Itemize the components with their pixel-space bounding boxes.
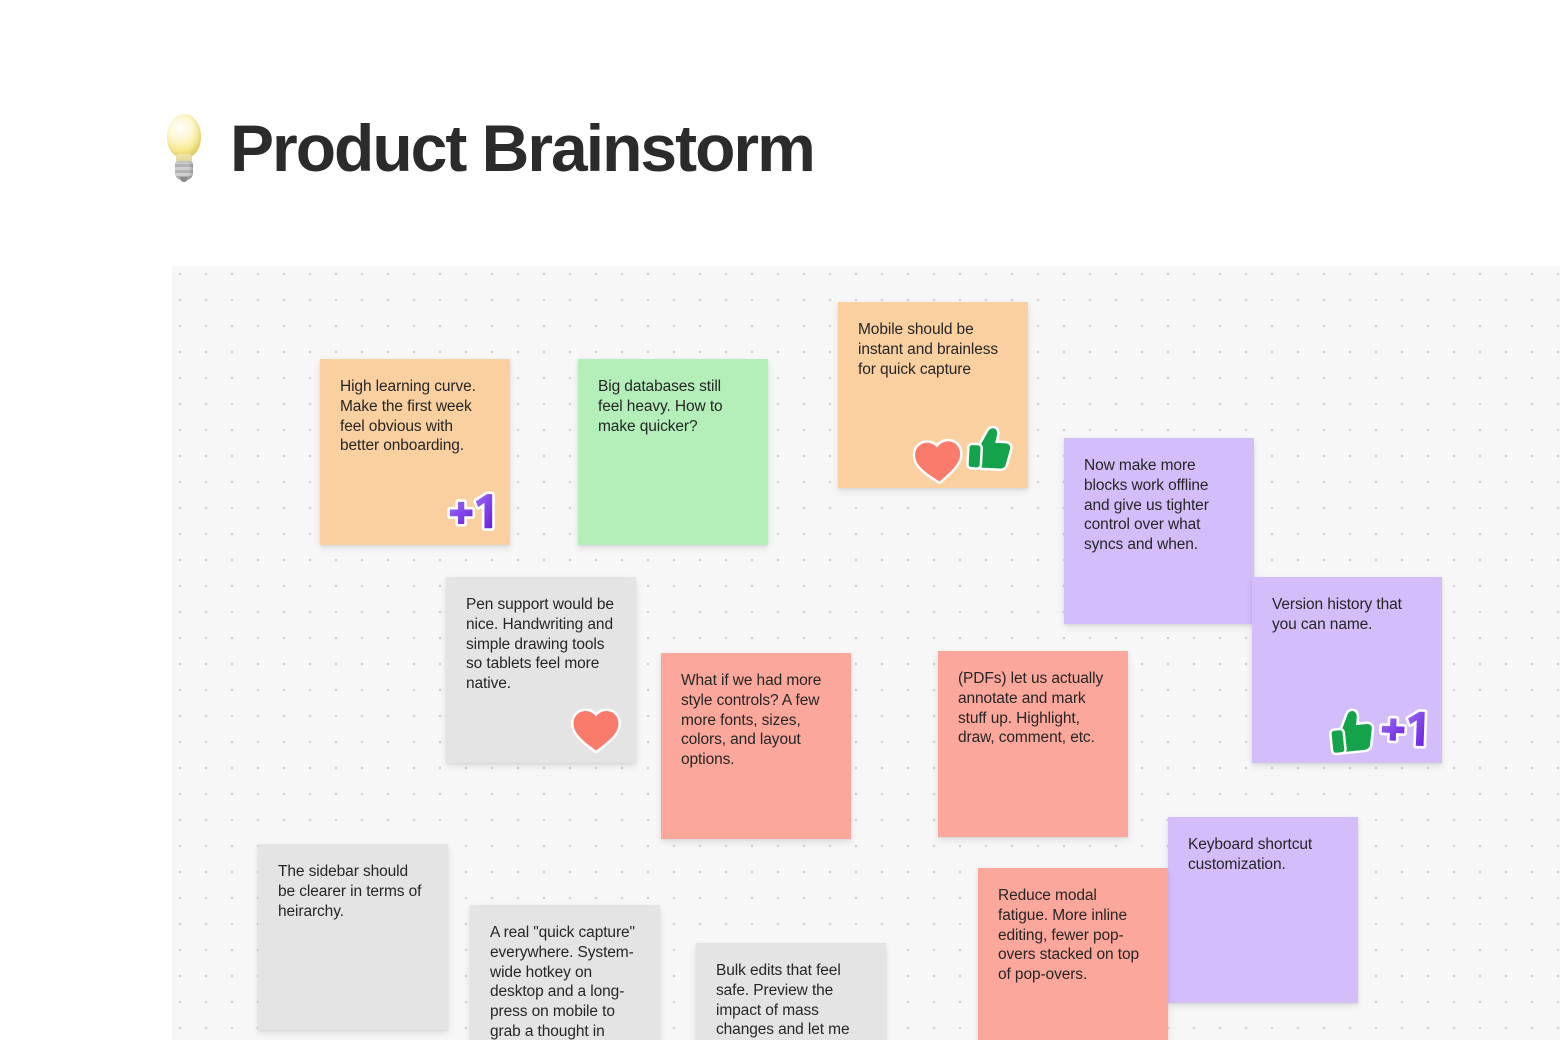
note-text: Big databases still feel heavy. How to m…	[598, 377, 748, 436]
brainstorm-board-page: Product Brainstorm High learning curve. …	[0, 0, 1560, 1040]
note-bulk-edits[interactable]: Bulk edits that feel safe. Preview the i…	[696, 943, 886, 1040]
note-offline-blocks[interactable]: Now make more blocks work offline and gi…	[1064, 438, 1254, 624]
note-text: A real "quick capture" everywhere. Syste…	[490, 923, 640, 1040]
note-sidebar-hierarchy[interactable]: The sidebar should be clearer in terms o…	[258, 844, 448, 1030]
note-keyboard-shortcut[interactable]: Keyboard shortcut customization.	[1168, 817, 1358, 1003]
note-reactions	[1328, 703, 1428, 753]
board-canvas[interactable]: High learning curve. Make the first week…	[172, 266, 1560, 1040]
page-title: Product Brainstorm	[230, 115, 814, 181]
plus-one-reaction-icon[interactable]	[1377, 703, 1429, 753]
note-text: Version history that you can name.	[1272, 595, 1422, 635]
note-quick-capture[interactable]: A real "quick capture" everywhere. Syste…	[470, 905, 660, 1040]
heart-reaction-icon[interactable]	[910, 434, 965, 486]
note-reactions	[446, 487, 496, 535]
note-text: Reduce modal fatigue. More inline editin…	[998, 886, 1148, 985]
note-reactions	[912, 428, 1014, 478]
lightbulb-icon	[160, 112, 208, 184]
note-pdf-annotate[interactable]: (PDFs) let us actually annotate and mark…	[938, 651, 1128, 837]
note-high-learning-curve[interactable]: High learning curve. Make the first week…	[320, 359, 510, 545]
note-text: What if we had more style controls? A fe…	[681, 671, 831, 770]
note-text: Now make more blocks work offline and gi…	[1084, 456, 1234, 555]
page-header: Product Brainstorm	[160, 100, 814, 196]
note-text: Pen support would be nice. Handwriting a…	[466, 595, 616, 694]
note-text: Keyboard shortcut customization.	[1188, 835, 1338, 875]
note-version-history[interactable]: Version history that you can name.	[1252, 577, 1442, 763]
note-text: Mobile should be instant and brainless f…	[858, 320, 1008, 379]
note-text: The sidebar should be clearer in terms o…	[278, 862, 428, 921]
thumbs-up-reaction-icon[interactable]	[1326, 705, 1379, 760]
note-style-controls[interactable]: What if we had more style controls? A fe…	[661, 653, 851, 839]
note-big-databases[interactable]: Big databases still feel heavy. How to m…	[578, 359, 768, 545]
note-text: Bulk edits that feel safe. Preview the i…	[716, 961, 866, 1040]
lightbulb-glass	[167, 114, 201, 158]
note-pen-support[interactable]: Pen support would be nice. Handwriting a…	[446, 577, 636, 763]
note-reactions	[570, 705, 622, 753]
lightbulb-tip	[180, 177, 188, 182]
plus-one-reaction-icon[interactable]	[446, 487, 496, 535]
note-modal-fatigue[interactable]: Reduce modal fatigue. More inline editin…	[978, 868, 1168, 1040]
thumbs-up-reaction-icon[interactable]	[965, 423, 1016, 475]
heart-reaction-icon[interactable]	[570, 705, 622, 753]
note-text: High learning curve. Make the first week…	[340, 377, 490, 456]
note-mobile-instant[interactable]: Mobile should be instant and brainless f…	[838, 302, 1028, 488]
note-text: (PDFs) let us actually annotate and mark…	[958, 669, 1108, 748]
